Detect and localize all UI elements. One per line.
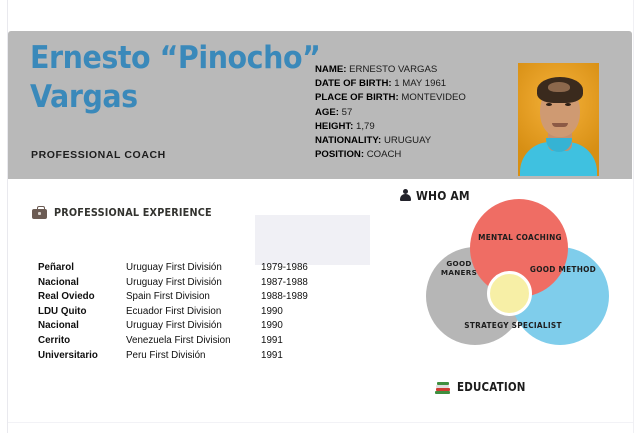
detail-key-name: NAME:	[315, 64, 346, 75]
books-icon-layer-1	[435, 391, 450, 394]
detail-key-position: POSITION:	[315, 149, 364, 160]
body-area: PROFESSIONAL EXPERIENCE Peñarol Uruguay …	[8, 179, 632, 423]
photo-eye-right	[565, 103, 571, 106]
books-icon-layer-4	[437, 382, 449, 385]
experience-league: Venezuela First Division	[126, 334, 261, 349]
experience-years: 1991	[261, 334, 328, 349]
page-edge-left	[0, 0, 8, 433]
experience-club: LDU Quito	[38, 305, 126, 320]
detail-value-name: ERNESTO VARGAS	[349, 64, 437, 75]
experience-years: 1990	[261, 305, 328, 320]
experience-years: 1991	[261, 349, 328, 364]
experience-league: Uruguay First División	[126, 319, 261, 334]
experience-club: Nacional	[38, 319, 126, 334]
detail-value-place-of-birth: MONTEVIDEO	[401, 92, 466, 103]
experience-years: 1987-1988	[261, 276, 328, 291]
briefcase-icon	[32, 206, 47, 219]
experience-club: Peñarol	[38, 261, 126, 276]
education-heading: EDUCATION	[435, 380, 537, 394]
experience-league: Uruguay First División	[126, 276, 261, 291]
role-subtitle: PROFESSIONAL COACH	[31, 149, 166, 161]
photo-eye-left	[546, 103, 552, 106]
detail-row-nationality: NATIONALITY: URUGUAY	[315, 134, 505, 148]
experience-league: Ecuador First Division	[126, 305, 261, 320]
header-band: Ernesto “Pinocho” Vargas PROFESSIONAL CO…	[8, 31, 632, 179]
table-row: Nacional Uruguay First División 1990	[38, 319, 328, 334]
professional-experience-label: PROFESSIONAL EXPERIENCE	[54, 206, 212, 219]
experience-years: 1988-1989	[261, 290, 328, 305]
table-row: Cerrito Venezuela First Division 1991	[38, 334, 328, 349]
detail-row-date-of-birth: DATE OF BIRTH: 1 MAY 1961	[315, 77, 505, 91]
detail-value-height: 1,79	[356, 121, 375, 132]
detail-key-height: HEIGHT:	[315, 121, 353, 132]
venn-label-mental-coaching: MENTAL COACHING	[478, 233, 563, 242]
detail-row-name: NAME: ERNESTO VARGAS	[315, 63, 505, 77]
detail-row-height: HEIGHT: 1,79	[315, 120, 505, 134]
page-title: Ernesto “Pinocho” Vargas	[30, 39, 310, 117]
who-am-venn-diagram: MENTAL COACHING GOOD MANERS GOOD METHOD …	[408, 199, 613, 359]
table-row: LDU Quito Ecuador First Division 1990	[38, 305, 328, 320]
experience-club: Real Oviedo	[38, 290, 126, 305]
detail-row-age: AGE: 57	[315, 106, 505, 120]
venn-label-strategy-specialist: STRATEGY SPECIALIST	[462, 321, 563, 330]
name-line-1: Ernesto “Pinocho”	[30, 39, 288, 78]
venn-label-good-maners: GOOD MANERS	[430, 259, 488, 277]
experience-years: 1990	[261, 319, 328, 334]
personal-details: NAME: ERNESTO VARGAS DATE OF BIRTH: 1 MA…	[315, 63, 505, 162]
professional-experience-heading: PROFESSIONAL EXPERIENCE	[32, 206, 233, 219]
photo-mouth	[552, 123, 568, 127]
background-panel	[255, 215, 370, 265]
experience-league: Uruguay First División	[126, 261, 261, 276]
experience-years: 1979-1986	[261, 261, 328, 276]
detail-value-nationality: URUGUAY	[384, 135, 431, 146]
detail-row-place-of-birth: PLACE OF BIRTH: MONTEVIDEO	[315, 91, 505, 105]
venn-circle-strategy-specialist	[487, 271, 532, 316]
detail-value-position: COACH	[367, 149, 402, 160]
experience-club: Universitario	[38, 349, 126, 364]
education-label: EDUCATION	[457, 380, 526, 394]
detail-key-nationality: NATIONALITY:	[315, 135, 381, 146]
detail-value-age: 57	[342, 107, 353, 118]
detail-row-position: POSITION: COACH	[315, 148, 505, 162]
experience-league: Peru First División	[126, 349, 261, 364]
books-icon-layer-3	[436, 385, 449, 388]
detail-key-date-of-birth: DATE OF BIRTH:	[315, 78, 392, 89]
detail-value-date-of-birth: 1 MAY 1961	[394, 78, 446, 89]
table-row: Universitario Peru First División 1991	[38, 349, 328, 364]
experience-table: Peñarol Uruguay First División 1979-1986…	[38, 261, 328, 363]
portrait-photo	[518, 63, 599, 176]
cv-page: Ernesto “Pinocho” Vargas PROFESSIONAL CO…	[0, 0, 640, 433]
page-edge-right	[633, 0, 640, 433]
detail-key-age: AGE:	[315, 107, 339, 118]
venn-label-good-method: GOOD METHOD	[523, 265, 602, 274]
detail-key-place-of-birth: PLACE OF BIRTH:	[315, 92, 399, 103]
page-edge-bottom	[0, 422, 640, 433]
table-row: Real Oviedo Spain First Division 1988-19…	[38, 290, 328, 305]
experience-club: Nacional	[38, 276, 126, 291]
photo-forehead	[548, 82, 570, 92]
briefcase-clasp	[38, 212, 41, 215]
books-icon-layer-2	[436, 388, 450, 391]
experience-league: Spain First Division	[126, 290, 261, 305]
table-row: Nacional Uruguay First División 1987-198…	[38, 276, 328, 291]
table-row: Peñarol Uruguay First División 1979-1986	[38, 261, 328, 276]
name-line-2: Vargas	[30, 78, 288, 117]
books-icon	[435, 380, 451, 394]
experience-club: Cerrito	[38, 334, 126, 349]
